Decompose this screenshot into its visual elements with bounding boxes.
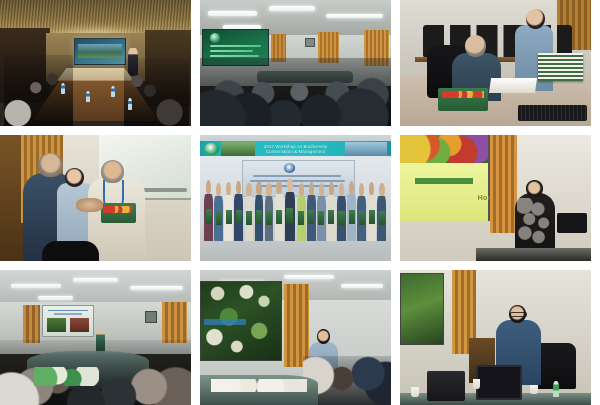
foreground-chair xyxy=(42,241,99,261)
ceiling-light xyxy=(11,284,61,288)
woman-head xyxy=(65,168,84,187)
participant xyxy=(306,182,316,241)
book-cover-illustration xyxy=(442,91,484,99)
photo-collage: Boardroom meeting with wood-slat ceiling… xyxy=(0,0,600,405)
participant xyxy=(274,181,284,241)
man-left-head xyxy=(38,153,63,177)
slide-fruit-banner xyxy=(400,135,488,163)
banner-photo-left xyxy=(221,142,255,156)
woman-head xyxy=(526,9,545,29)
window-curtain xyxy=(284,284,309,368)
slide-photo-left xyxy=(47,318,66,332)
slide-caption-bar xyxy=(204,319,246,326)
glasses-icon xyxy=(510,312,527,318)
table-items xyxy=(34,367,99,386)
participant xyxy=(204,180,214,240)
ceiling-light xyxy=(341,284,383,288)
water-bottle xyxy=(553,381,559,397)
paper-cup xyxy=(411,387,419,396)
photo-1-scene xyxy=(0,0,191,126)
banner-line-2: Conservation & Management xyxy=(238,149,353,154)
photo-7-scene xyxy=(0,270,191,405)
speaker-head xyxy=(526,180,543,196)
slide-image xyxy=(78,44,122,58)
photo-3-scene xyxy=(400,0,591,126)
ceiling-light xyxy=(284,275,334,279)
collage-photo-8[interactable]: Presenter discussing plant and flower ph… xyxy=(200,270,391,405)
collage-photo-3[interactable]: Signing certificates and books at the de… xyxy=(400,0,591,126)
open-book xyxy=(489,78,537,93)
paper-cup xyxy=(530,385,538,394)
photo-8-scene xyxy=(200,270,391,405)
ceiling-light xyxy=(73,278,119,282)
desktop-computer xyxy=(427,371,465,401)
participant xyxy=(377,183,387,240)
handshake xyxy=(76,198,103,212)
participant xyxy=(337,183,347,241)
slide-photo-right xyxy=(70,318,89,332)
participant xyxy=(357,183,367,241)
monitor xyxy=(557,213,588,233)
participant xyxy=(224,182,234,241)
monitor xyxy=(476,365,522,400)
event-banner-text: 2017 Workshop on Biodiversity Conservati… xyxy=(238,144,353,154)
water-bottle xyxy=(128,98,132,109)
participant xyxy=(244,183,254,240)
window-curtain xyxy=(162,302,187,343)
green-circular-logo-icon xyxy=(210,33,221,43)
keyboard xyxy=(518,105,587,121)
participant xyxy=(347,181,357,241)
window-curtain xyxy=(490,135,517,233)
slide-header-bar xyxy=(415,178,472,184)
collage-photo-9[interactable]: Speaker at the podium with projector and… xyxy=(400,270,591,405)
participant xyxy=(254,182,264,241)
photo-6-scene: Hong Zhu 测试 xyxy=(400,135,591,261)
wood-panel xyxy=(0,135,23,261)
seated-audience xyxy=(200,58,391,126)
wall-frame xyxy=(145,311,157,324)
photo-5-scene: 2017 Workshop on Biodiversity Conservati… xyxy=(200,135,391,261)
window-curtain xyxy=(23,305,40,343)
collage-photo-2[interactable]: Lecture room audience facing a green tit… xyxy=(200,0,391,126)
participant xyxy=(214,183,224,241)
water-bottle xyxy=(86,91,90,102)
projection-screen xyxy=(42,305,94,337)
collage-photo-1[interactable]: Boardroom meeting with wood-slat ceiling… xyxy=(0,0,191,126)
participant xyxy=(367,182,377,241)
collage-photo-5[interactable]: 2017 Workshop on Biodiversity Conservati… xyxy=(200,135,391,261)
banner-photo-right xyxy=(345,142,387,156)
collage-photo-6[interactable]: Hong Zhu 测试 Speaker presenting beside a … xyxy=(400,135,591,261)
participant-group xyxy=(204,180,387,240)
participant-center xyxy=(284,178,295,241)
ceiling-light xyxy=(326,14,383,18)
speaker-head xyxy=(317,329,330,344)
ceiling-light xyxy=(130,286,183,290)
table-cups xyxy=(211,379,307,391)
water-bottle xyxy=(111,86,115,97)
ceiling-light xyxy=(38,296,72,300)
attendees-right xyxy=(124,58,189,126)
gift-box-illustration xyxy=(103,206,132,214)
slide-title-bar xyxy=(48,310,88,312)
participant xyxy=(327,182,337,241)
collage-photo-4[interactable]: Handshake and presentation of a commemor… xyxy=(0,135,191,261)
collage-photo-7[interactable]: Wide view of the meeting room during a t… xyxy=(0,270,191,405)
book-stack xyxy=(538,53,584,81)
man-head xyxy=(465,35,486,56)
ceiling-light xyxy=(269,6,315,10)
slide-subtitle-bar xyxy=(54,313,82,314)
photo-9-scene xyxy=(400,270,591,405)
participant xyxy=(264,183,274,241)
projection-screen xyxy=(74,38,126,65)
participant xyxy=(296,183,306,241)
front-desk xyxy=(476,248,591,261)
water-bottle xyxy=(61,83,65,94)
projection-screen xyxy=(400,273,444,345)
participant xyxy=(317,183,327,240)
paper-cup xyxy=(473,379,481,388)
photo-4-scene xyxy=(0,135,191,261)
ceiling-light xyxy=(208,11,258,15)
workshop-logo-icon xyxy=(204,143,219,156)
speaker-clothing-pattern xyxy=(517,198,553,248)
participant xyxy=(234,181,244,241)
photo-2-scene xyxy=(200,0,391,126)
wall-frame xyxy=(305,38,315,48)
